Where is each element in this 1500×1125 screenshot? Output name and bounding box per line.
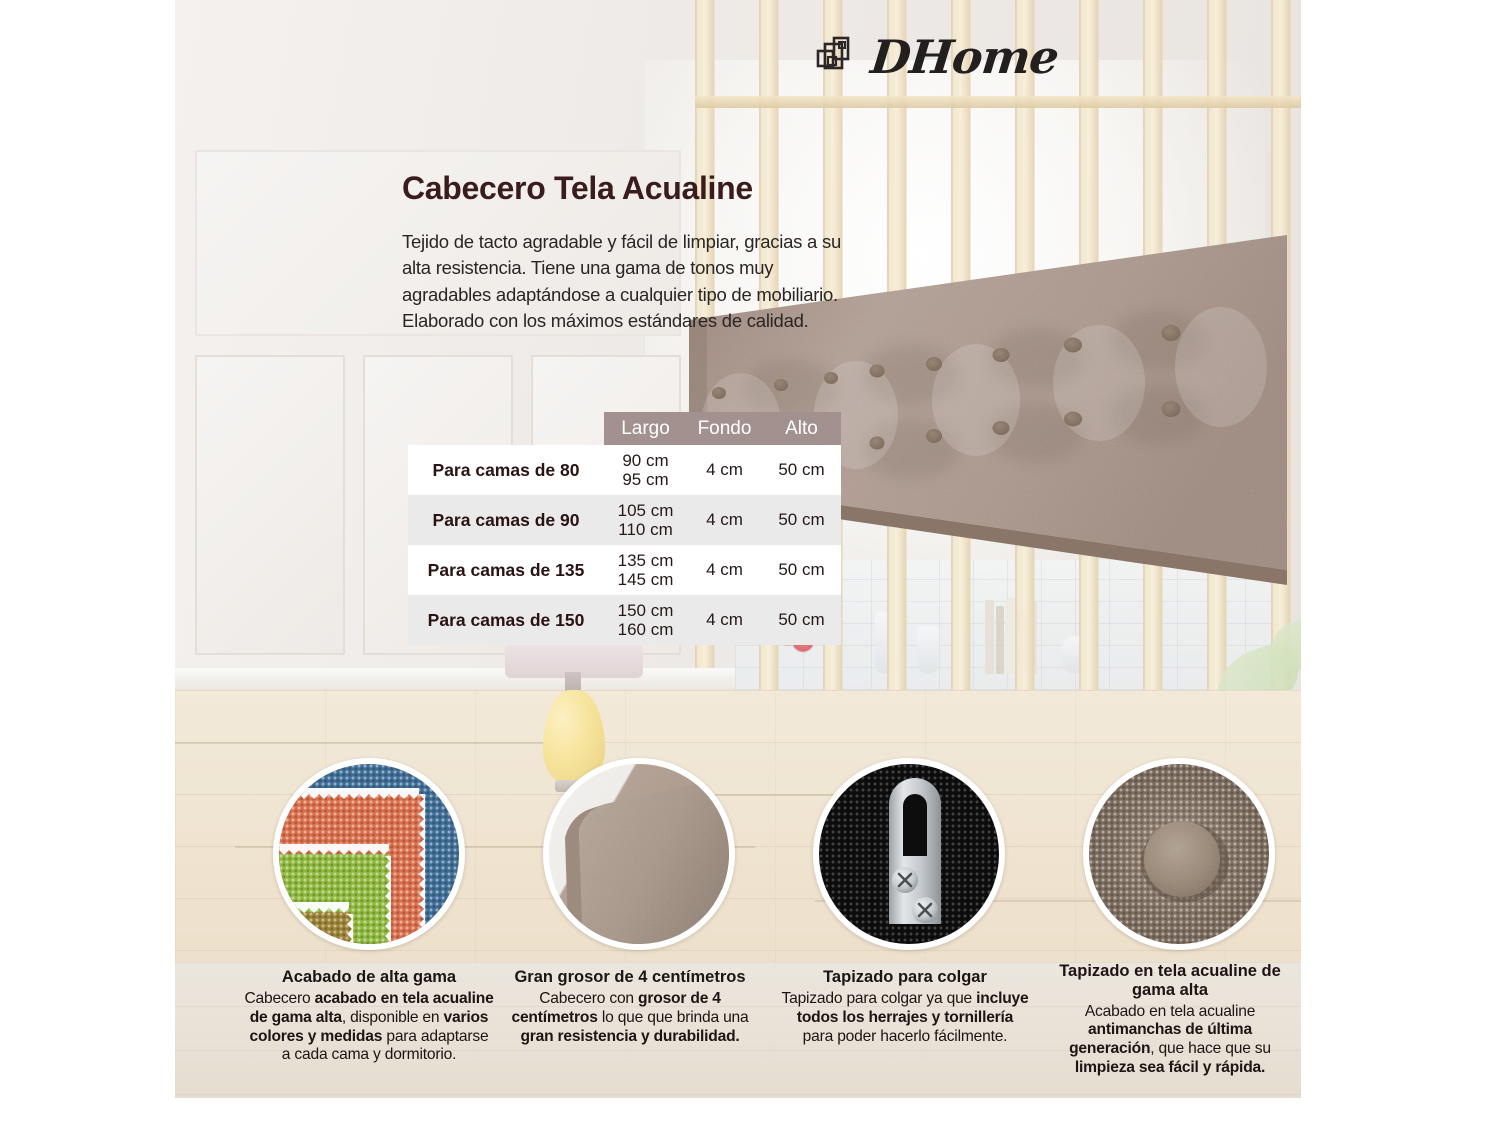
cell-fondo: 4 cm (687, 595, 762, 645)
floor-seam (175, 742, 595, 744)
row-label: Para camas de 80 (408, 445, 604, 495)
table-body: Para camas de 80 90 cm 95 cm 4 cm 50 cm … (408, 445, 841, 645)
table-header: Largo Fondo Alto (408, 412, 841, 445)
table-row: Para camas de 150 150 cm 160 cm 4 cm 50 … (408, 595, 841, 645)
feature-text-bold: limpieza sea fácil y rápida. (1075, 1059, 1265, 1076)
table-header-alto: Alto (762, 412, 841, 445)
feature-text-plain: lo que que brinda una (598, 1009, 749, 1026)
feature-text-plain: Cabecero con (539, 990, 638, 1007)
slat-rail (695, 96, 1301, 108)
largo-value-1: 135 cm (604, 551, 687, 570)
photo-panel: DHome Cabecero Tela Acualine Tejido de t… (175, 0, 1301, 1098)
dimensions-table: Largo Fondo Alto Para camas de 80 90 cm … (408, 412, 841, 645)
feature-1-caption: Acabado de alta gama Cabecero acabado en… (244, 968, 494, 1065)
cell-largo: 135 cm 145 cm (604, 545, 687, 595)
wall-bracket-icon (813, 758, 1005, 950)
table-header-fondo: Fondo (687, 412, 762, 445)
fabric-swatches-icon (273, 758, 465, 950)
feature-title: Gran grosor de 4 centímetros (505, 968, 755, 987)
feature-body: Cabecero acabado en tela acualine de gam… (244, 990, 494, 1065)
feature-1 (244, 758, 494, 950)
largo-value-1: 90 cm (604, 451, 687, 470)
feature-body: Tapizado para colgar ya que incluye todo… (780, 990, 1030, 1047)
feature-text-plain: Cabecero (244, 990, 314, 1007)
cell-alto: 50 cm (762, 595, 841, 645)
cell-alto: 50 cm (762, 445, 841, 495)
feature-text-bold: gran resistencia y durabilidad. (520, 1028, 739, 1045)
table-header-largo: Largo (604, 412, 687, 445)
page-title: Cabecero Tela Acualine (402, 170, 753, 207)
feature-2-caption: Gran grosor de 4 centímetros Cabecero co… (505, 968, 755, 1046)
row-label: Para camas de 150 (408, 595, 604, 645)
largo-value-1: 150 cm (604, 601, 687, 620)
feature-4-caption: Tapizado en tela acualine de gama alta A… (1045, 962, 1295, 1078)
feature-text-plain: Acabado en tela acualine (1085, 1003, 1255, 1020)
cell-largo: 90 cm 95 cm (604, 445, 687, 495)
wall-panel (195, 355, 345, 655)
feature-2 (514, 758, 764, 950)
feature-text-plain: Tapizado para colgar ya que (782, 990, 977, 1007)
feature-text-plain: , que hace que su (1150, 1040, 1271, 1057)
cell-alto: 50 cm (762, 495, 841, 545)
feature-text-plain: , disponible en (342, 1009, 444, 1026)
feature-title: Acabado de alta gama (244, 968, 494, 987)
largo-value-2: 160 cm (604, 620, 687, 639)
largo-value-2: 145 cm (604, 570, 687, 589)
feature-4 (1054, 758, 1301, 950)
table-row: Para camas de 135 135 cm 145 cm 4 cm 50 … (408, 545, 841, 595)
feature-body: Acabado en tela acualine antimanchas de … (1045, 1003, 1295, 1078)
largo-value-2: 95 cm (604, 470, 687, 489)
largo-value-1: 105 cm (604, 501, 687, 520)
table-row: Para camas de 90 105 cm 110 cm 4 cm 50 c… (408, 495, 841, 545)
cell-alto: 50 cm (762, 545, 841, 595)
row-label: Para camas de 135 (408, 545, 604, 595)
product-description: Tejido de tacto agradable y fácil de lim… (402, 229, 854, 335)
squares-logo-icon (815, 34, 859, 80)
feature-body: Cabecero con grosor de 4 centímetros lo … (505, 990, 755, 1047)
cell-largo: 150 cm 160 cm (604, 595, 687, 645)
feature-text-plain: para poder hacerlo fácilmente. (803, 1028, 1008, 1045)
panel-thickness-icon (543, 758, 735, 950)
feature-3 (784, 758, 1034, 950)
cell-fondo: 4 cm (687, 445, 762, 495)
largo-value-2: 110 cm (604, 520, 687, 539)
tufted-button-icon (1083, 758, 1275, 950)
logo-wordmark: DHome (869, 34, 1061, 80)
cell-fondo: 4 cm (687, 495, 762, 545)
feature-3-caption: Tapizado para colgar Tapizado para colga… (780, 968, 1030, 1046)
row-label: Para camas de 90 (408, 495, 604, 545)
cell-fondo: 4 cm (687, 545, 762, 595)
brand-logo: DHome (815, 34, 1058, 80)
cell-largo: 105 cm 110 cm (604, 495, 687, 545)
feature-title: Tapizado en tela acualine de gama alta (1045, 962, 1295, 1000)
table-header-blank (408, 412, 604, 445)
infographic-canvas: DHome Cabecero Tela Acualine Tejido de t… (0, 0, 1500, 1125)
feature-title: Tapizado para colgar (780, 968, 1030, 987)
table-row: Para camas de 80 90 cm 95 cm 4 cm 50 cm (408, 445, 841, 495)
